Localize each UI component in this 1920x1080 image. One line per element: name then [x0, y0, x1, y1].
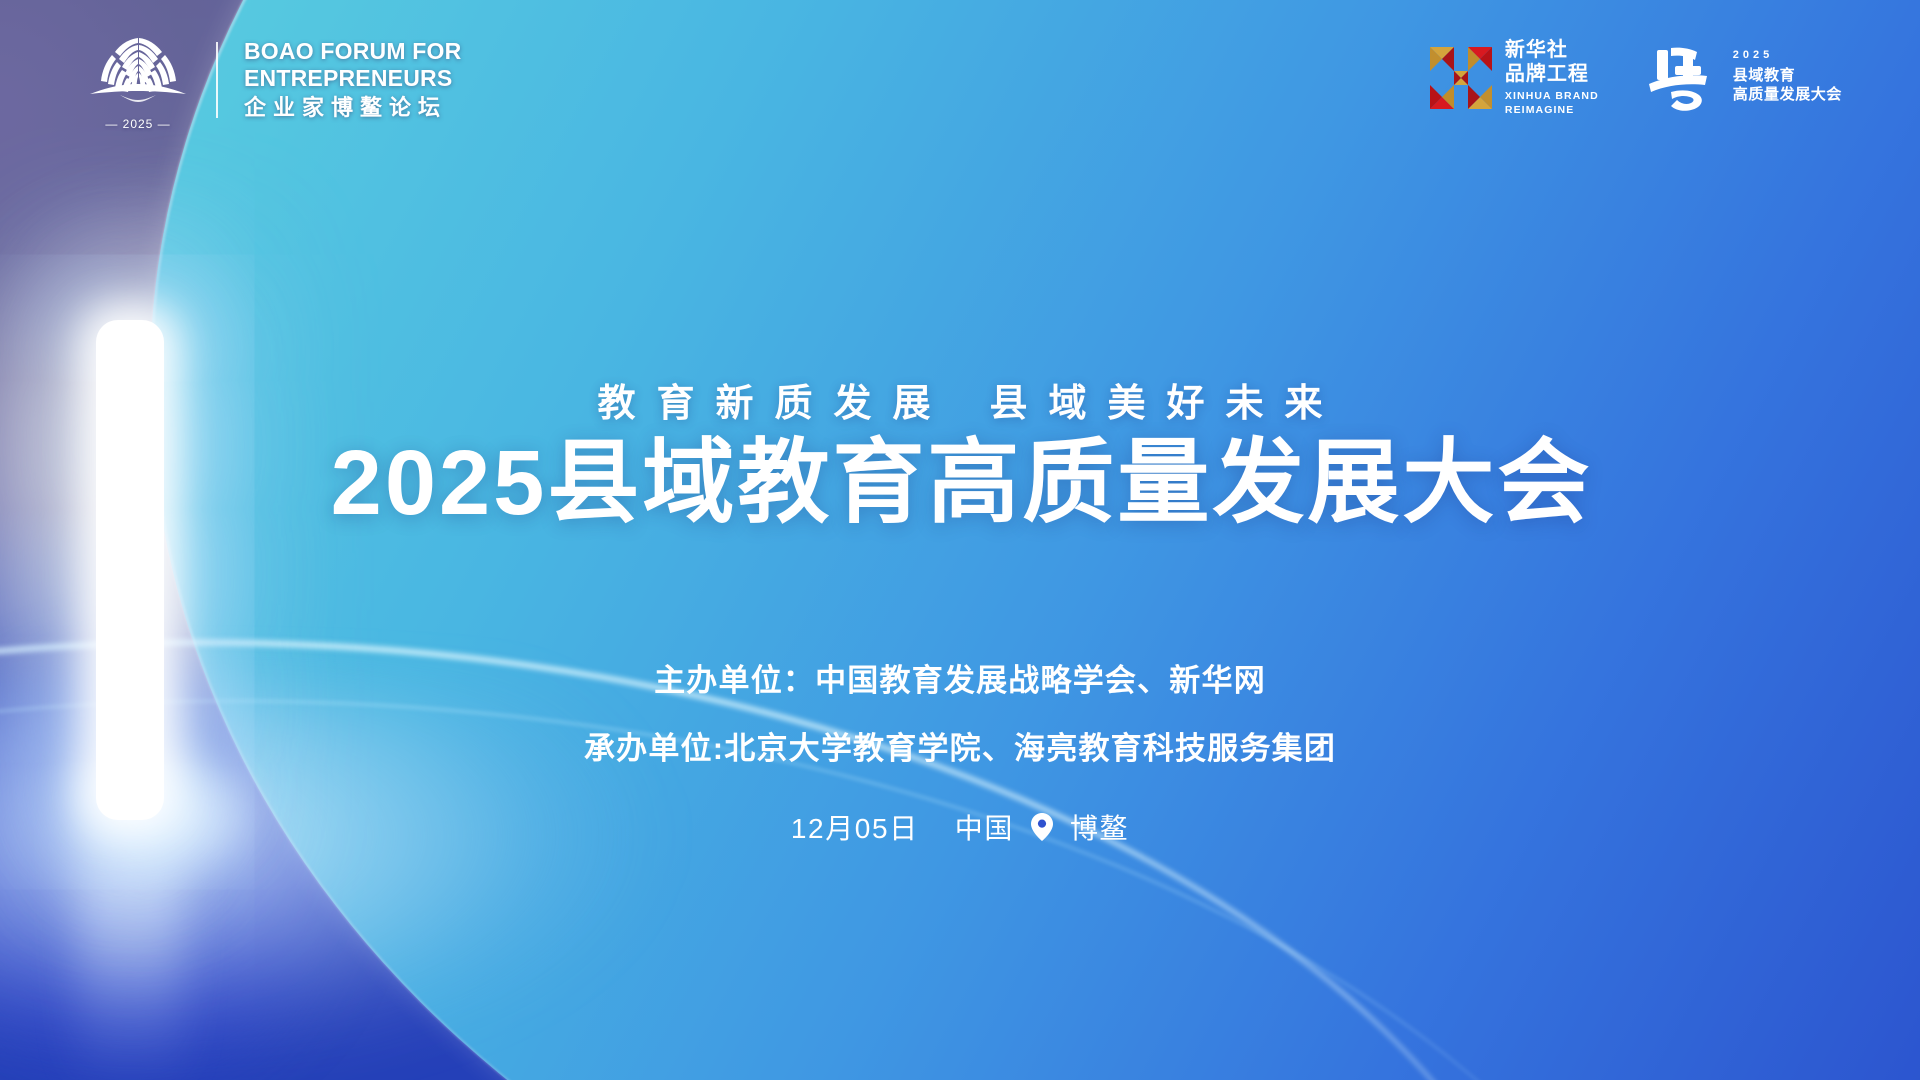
partner-logos: 新华社 品牌工程 XINHUA BRAND REIMAGINE 2025: [1430, 40, 1842, 115]
xinhua-cn-line2: 品牌工程: [1505, 64, 1599, 84]
xinhua-pinwheel-icon: [1430, 47, 1492, 109]
xinhua-cn-line1: 新华社: [1505, 40, 1599, 60]
boao-logo-text: BOAO FORUM FOR ENTREPRENEURS 企业家博鳌论坛: [244, 38, 461, 121]
boao-forum-logo: — 2025 — BOAO FORUM FOR ENTREPRENEURS 企业…: [82, 32, 461, 128]
event-meta: 12月05日 中国 博鳌: [0, 807, 1920, 847]
location-pin-icon: [1031, 813, 1053, 841]
page-title: 2025县域教育高质量发展大会: [0, 432, 1920, 535]
xianyu-year: 2025: [1733, 50, 1842, 61]
xianyu-cn-line1: 县域教育: [1733, 68, 1842, 83]
poster-canvas: — 2025 — BOAO FORUM FOR ENTREPRENEURS 企业…: [0, 0, 1920, 1080]
event-country: 中国: [955, 807, 1014, 847]
xinhua-brand-logo: 新华社 品牌工程 XINHUA BRAND REIMAGINE: [1430, 40, 1599, 115]
executive-organizer-line: 承办单位:北京大学教育学院、海亮教育科技服务集团: [0, 723, 1920, 768]
kicker-left: 教育新质发展: [597, 383, 951, 425]
xianyu-cn-line2: 高质量发展大会: [1733, 87, 1842, 102]
xianyu-conference-logo: 2025 县域教育 高质量发展大会: [1645, 42, 1842, 114]
poster-kicker: 教育新质发展县域美好未来: [0, 372, 1920, 427]
xianyu-brush-icon: [1645, 42, 1719, 114]
kicker-right: 县域美好未来: [990, 383, 1344, 425]
xianyu-logo-text: 2025 县域教育 高质量发展大会: [1733, 50, 1842, 106]
event-date: 12月05日: [791, 807, 919, 847]
boao-en-line2: ENTREPRENEURS: [244, 65, 461, 91]
event-city: 博鳌: [1070, 807, 1129, 847]
xinhua-en-line2: REIMAGINE: [1505, 105, 1599, 116]
boao-shell-icon: — 2025 —: [82, 32, 194, 128]
boao-logo-year: — 2025 —: [82, 117, 194, 131]
host-organizer-line: 主办单位：中国教育发展战略学会、新华网: [0, 655, 1920, 700]
boao-en-line1: BOAO FORUM FOR: [244, 38, 461, 64]
xinhua-logo-text: 新华社 品牌工程 XINHUA BRAND REIMAGINE: [1505, 40, 1599, 115]
boao-cn-line: 企业家博鳌论坛: [244, 94, 461, 122]
logo-divider: [216, 42, 218, 118]
xinhua-en-line1: XINHUA BRAND: [1505, 91, 1599, 102]
